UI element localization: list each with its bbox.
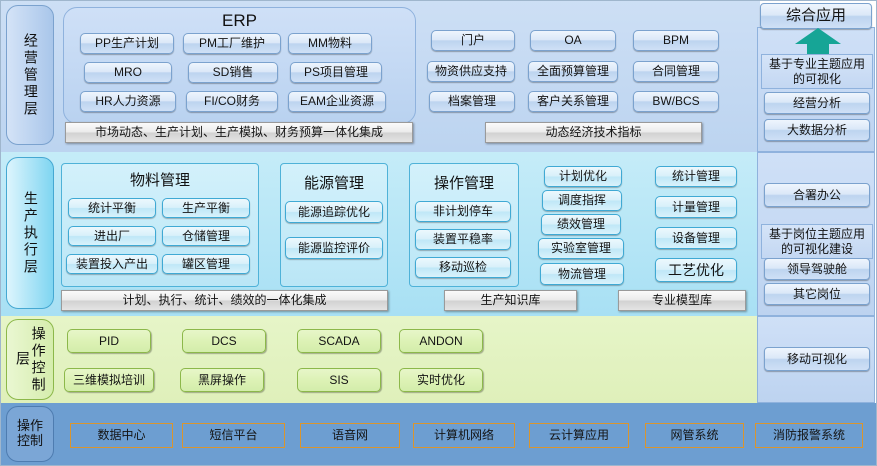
integration-bar-business[interactable]: 市场动态、生产计划、生产模拟、财务预算一体化集成 [65,122,413,143]
operation-item-label: 装置平稳率 [433,233,493,246]
control-item-label: 三维模拟培训 [73,374,145,387]
infrastructure-item-label: 网管系统 [670,429,718,442]
rail-item-leader-cockpit[interactable]: 领导驾驶舱 [764,258,870,280]
material-item-label: 进出厂 [94,230,130,243]
erp-item[interactable]: EAM企业资源 [288,91,386,112]
infrastructure-item[interactable]: 短信平台 [182,423,285,448]
office-item-label: 全面预算管理 [537,65,609,78]
control-item[interactable]: 实时优化 [399,368,483,392]
office-item[interactable]: OA [530,30,616,51]
erp-item[interactable]: MM物料 [288,33,372,54]
control-item-label: PID [99,335,119,348]
layer-tab-business-label: 经营管理层 [22,33,38,118]
office-item[interactable]: 门户 [431,30,515,51]
energy-item[interactable]: 能源追踪优化 [285,201,383,223]
infrastructure-item[interactable]: 消防报警系统 [755,423,863,448]
production-column-a-item[interactable]: 物流管理 [540,263,624,285]
operation-item-label: 移动巡检 [439,261,487,274]
material-item[interactable]: 仓储管理 [162,226,250,246]
role-theme-note-label: 基于岗位主题应用的可视化建设 [764,227,870,256]
office-item-label: 物资供应支持 [435,65,507,78]
erp-item[interactable]: PS项目管理 [290,62,382,83]
erp-item-label: FI/CO财务 [204,95,260,108]
infrastructure-item-label: 云计算应用 [549,429,609,442]
energy-item-label: 能源监控评价 [298,242,370,255]
control-item[interactable]: SIS [297,368,381,392]
material-item-label: 装置投入产出 [76,258,148,271]
infrastructure-item-label: 数据中心 [97,429,145,442]
office-item-label: 客户关系管理 [537,95,609,108]
erp-item-label: PP生产计划 [95,37,159,50]
erp-item[interactable]: FI/CO财务 [186,91,278,112]
production-column-a-label: 调度指挥 [558,194,606,207]
indicator-bar-business-label: 动态经济技术指标 [545,126,641,139]
rail-item-label: 合署办公 [793,189,841,202]
production-column-a-label: 绩效管理 [557,218,605,231]
operation-item[interactable]: 移动巡检 [415,257,511,278]
layer-tab-control-label: 操作控制层 [14,320,45,399]
control-item-label: SCADA [318,335,359,348]
erp-item-label: PS项目管理 [304,66,368,79]
office-item[interactable]: BPM [633,30,719,51]
layer-tab-business[interactable]: 经营管理层 [6,5,54,145]
rail-item-label: 领导驾驶舱 [787,263,847,276]
production-column-b-item[interactable]: 统计管理 [655,166,737,187]
production-column-a-item[interactable]: 调度指挥 [542,190,622,211]
operation-management-title: 操作管理 [410,172,518,193]
erp-item[interactable]: PP生产计划 [80,33,174,54]
integration-bar-business-label: 市场动态、生产计划、生产模拟、财务预算一体化集成 [95,126,383,139]
control-item-label: ANDON [419,335,462,348]
office-item-label: 合同管理 [652,65,700,78]
professional-theme-note: 基于专业主题应用的可视化 [761,54,873,89]
professional-theme-note-label: 基于专业主题应用的可视化 [764,57,870,86]
material-item-label: 罐区管理 [182,258,230,271]
control-item[interactable]: DCS [182,329,266,353]
control-item-label: DCS [211,335,236,348]
office-item-label: 门户 [461,34,485,47]
office-item[interactable]: 合同管理 [633,61,719,82]
integration-bar-production[interactable]: 计划、执行、统计、绩效的一体化集成 [61,290,388,311]
control-item[interactable]: 三维模拟培训 [64,368,154,392]
rail-item-label: 其它岗位 [793,288,841,301]
material-item[interactable]: 生产平衡 [162,198,250,218]
production-column-b-label: 工艺优化 [668,263,724,278]
rail-item-business-analysis[interactable]: 经营分析 [764,92,870,114]
production-column-b-item[interactable]: 设备管理 [655,227,737,249]
layer-tab-control[interactable]: 操作控制层 [6,319,54,400]
model-library-bar-label: 专业模型库 [652,294,712,307]
erp-item-label: MM物料 [308,37,352,50]
model-library-bar[interactable]: 专业模型库 [618,290,746,311]
infrastructure-item[interactable]: 计算机网络 [413,423,515,448]
indicator-bar-business[interactable]: 动态经济技术指标 [485,122,702,143]
rail-item-other-roles[interactable]: 其它岗位 [764,283,870,305]
rail-item-label: 大数据分析 [787,124,847,137]
office-item[interactable]: 物资供应支持 [427,61,515,82]
role-theme-note: 基于岗位主题应用的可视化建设 [761,224,873,259]
production-column-a-label: 实验室管理 [551,242,611,255]
operation-item[interactable]: 装置平稳率 [415,229,511,250]
control-item-label: 黑屏操作 [198,374,246,387]
rail-item-bigdata-analysis[interactable]: 大数据分析 [764,119,870,141]
material-item-label: 统计平衡 [88,202,136,215]
layer-tab-infrastructure-label: 操作控制 [13,419,47,448]
infrastructure-item-label: 计算机网络 [434,429,494,442]
office-item-label: BPM [663,34,689,47]
production-column-b-item[interactable]: 计量管理 [655,196,737,218]
material-item-label: 生产平衡 [182,202,230,215]
production-column-a-item[interactable]: 计划优化 [544,166,622,187]
infrastructure-item[interactable]: 数据中心 [70,423,173,448]
production-column-a-item[interactable]: 绩效管理 [541,214,621,235]
production-column-b-label: 设备管理 [672,232,720,245]
material-management-title: 物料管理 [62,169,258,190]
operation-item-label: 非计划停车 [433,205,493,218]
infrastructure-item[interactable]: 云计算应用 [529,423,629,448]
erp-item[interactable]: MRO [84,62,172,83]
erp-group-title: ERP [64,11,415,31]
office-item-label: 档案管理 [448,95,496,108]
material-item[interactable]: 装置投入产出 [66,254,158,274]
production-column-b-label: 计量管理 [672,201,720,214]
comprehensive-application-label: 综合应用 [786,8,846,24]
material-item[interactable]: 罐区管理 [162,254,250,274]
rail-item-label: 移动可视化 [787,353,847,366]
architecture-diagram: 经营管理层 生产执行层 操作控制层 操作控制 ERP PP生产计划 PM工厂维护… [0,0,877,466]
material-item[interactable]: 统计平衡 [68,198,156,218]
control-item-label: 实时优化 [417,374,465,387]
production-column-a-label: 计划优化 [559,170,607,183]
production-column-a-label: 物流管理 [558,268,606,281]
layer-tab-production-label: 生产执行层 [22,191,38,276]
infrastructure-item[interactable]: 网管系统 [645,423,744,448]
erp-item-label: PM工厂维护 [199,37,265,50]
infrastructure-item-label: 消防报警系统 [773,429,845,442]
energy-management-title: 能源管理 [281,172,387,193]
erp-item-label: MRO [114,66,142,79]
control-item[interactable]: SCADA [297,329,381,353]
office-item[interactable]: 全面预算管理 [528,61,618,82]
knowledge-base-bar-label: 生产知识库 [480,294,540,307]
production-column-a-item[interactable]: 实验室管理 [538,238,624,259]
control-item[interactable]: 黑屏操作 [180,368,264,392]
infrastructure-item-label: 短信平台 [209,429,257,442]
erp-item[interactable]: HR人力资源 [80,91,176,112]
production-column-b-label: 统计管理 [672,170,720,183]
infrastructure-item[interactable]: 语音网 [300,423,400,448]
rail-item-label: 经营分析 [793,97,841,110]
layer-tab-production[interactable]: 生产执行层 [6,157,54,309]
office-item[interactable]: 档案管理 [429,91,515,112]
energy-item[interactable]: 能源监控评价 [285,237,383,259]
control-item[interactable]: ANDON [399,329,483,353]
material-item-label: 仓储管理 [182,230,230,243]
erp-item-label: HR人力资源 [95,95,160,108]
office-item-label: OA [564,34,581,47]
office-item[interactable]: BW/BCS [633,91,719,112]
control-item[interactable]: PID [67,329,151,353]
rail-item-shared-office[interactable]: 合署办公 [764,183,870,207]
integration-bar-production-label: 计划、执行、统计、绩效的一体化集成 [122,294,326,307]
material-item[interactable]: 进出厂 [68,226,156,246]
control-item-label: SIS [329,374,348,387]
erp-item-label: SD销售 [213,66,254,79]
erp-item[interactable]: PM工厂维护 [183,33,281,54]
rail-item-mobile-visualization[interactable]: 移动可视化 [764,347,870,371]
production-column-b-item[interactable]: 工艺优化 [655,258,737,282]
erp-item-label: EAM企业资源 [300,95,374,108]
energy-item-label: 能源追踪优化 [298,206,370,219]
office-item-label: BW/BCS [652,95,699,108]
energy-management-group: 能源管理 [280,163,388,287]
comprehensive-application-button[interactable]: 综合应用 [760,3,872,29]
office-item[interactable]: 客户关系管理 [528,91,618,112]
infrastructure-item-label: 语音网 [332,429,368,442]
knowledge-base-bar[interactable]: 生产知识库 [444,290,577,311]
erp-item[interactable]: SD销售 [188,62,278,83]
layer-tab-infrastructure[interactable]: 操作控制 [6,406,54,462]
operation-item[interactable]: 非计划停车 [415,201,511,222]
